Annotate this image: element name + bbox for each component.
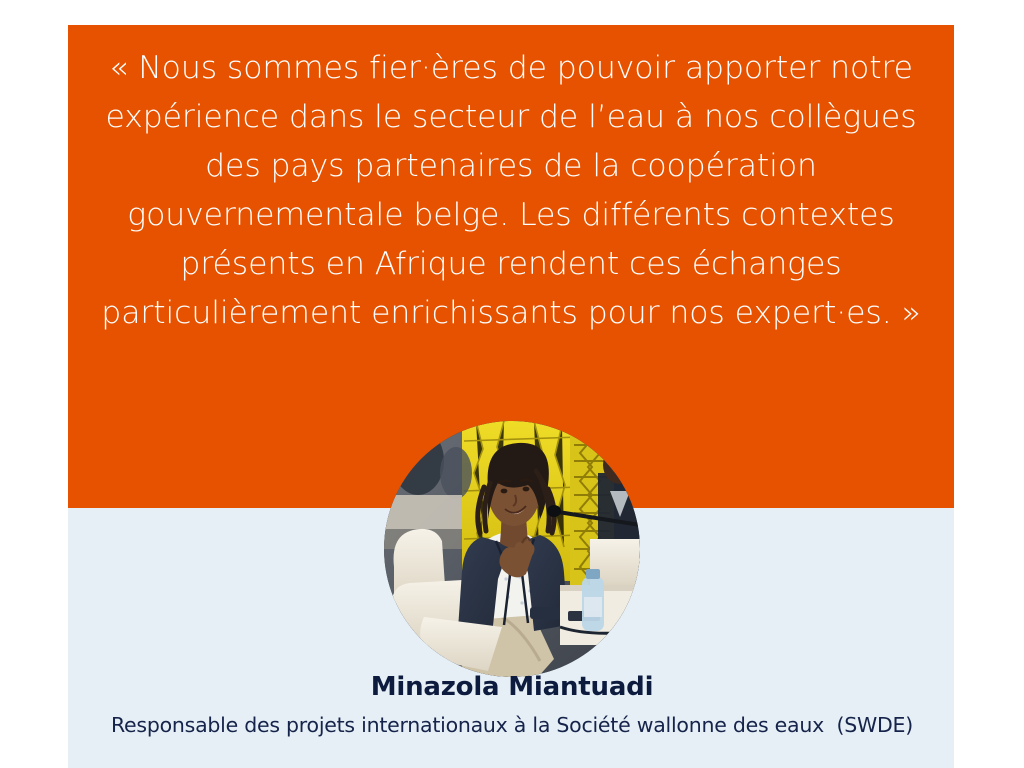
- quote-card: « Nous sommes fier·ères de pouvoir appor…: [0, 0, 1024, 768]
- quote-text: « Nous sommes fier·ères de pouvoir appor…: [84, 44, 938, 338]
- person-role: Responsable des projets internationaux à…: [0, 712, 1024, 738]
- person-name: Minazola Miantuadi: [0, 671, 1024, 703]
- portrait-photo: [384, 421, 640, 677]
